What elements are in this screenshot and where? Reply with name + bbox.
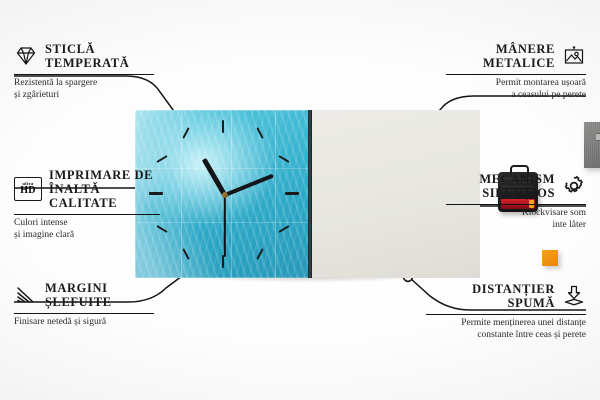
- feature-polished-edges: MARGINI ȘLEFUITE Finisare netedă și sigu…: [14, 281, 154, 329]
- feature-subtitle-line-2: constante între ceas și perete: [477, 330, 586, 340]
- gear-icon: [562, 174, 586, 198]
- feature-subtitle-line-2: și imagine clară: [14, 230, 74, 240]
- feature-title-line-1: DISTANȚIER: [472, 282, 555, 296]
- feature-subtitle-line-1: Finisare netedă și sigură: [14, 317, 106, 327]
- feature-title-line-2: ÎNALTĂ CALITATE: [49, 182, 117, 210]
- feature-title-line-2: SILENȚIOS: [482, 186, 555, 200]
- product-photo: [135, 110, 480, 278]
- clock-face: [135, 110, 310, 278]
- feature-subtitle-line-2: inte låter: [553, 220, 587, 230]
- feature-divider: [14, 74, 154, 75]
- feature-silent-mechanism: MECANISM SILENȚIOS Klockvisare som inte …: [446, 172, 586, 231]
- feature-divider: [426, 314, 586, 315]
- feature-tempered-glass: STICLĂ TEMPERATĂ Rezistentă la spargere …: [14, 42, 154, 101]
- feature-title-line-1: MECANISM: [479, 172, 555, 186]
- ultra-hd-icon-large-text: HD: [20, 186, 35, 196]
- arrow-down-pad-icon: [562, 284, 586, 308]
- clock-second-hand: [224, 195, 226, 257]
- feature-title-line-1: STICLĂ: [45, 42, 95, 56]
- feature-title-line-1: MARGINI: [45, 281, 108, 295]
- diagonal-lines-icon: [14, 283, 38, 307]
- feature-subtitle-line-2: a ceasului pe perete: [511, 90, 586, 100]
- feature-divider: [446, 204, 586, 205]
- clock-minute-hand: [224, 174, 274, 197]
- feature-subtitle-line-1: Rezistentă la spargere: [14, 78, 97, 88]
- feature-subtitle-line-1: Culori intense: [14, 218, 68, 228]
- feature-high-quality-print: ultra HD IMPRIMARE DE ÎNALTĂ CALITATE Cu…: [14, 168, 160, 241]
- feature-subtitle-line-1: Permite menținerea unei distanțe: [461, 318, 586, 328]
- foam-spacer: [542, 250, 558, 266]
- feature-title-line-1: MÂNERE: [496, 42, 555, 56]
- hanger-keyhole-slot: [595, 133, 600, 141]
- feature-divider: [14, 313, 154, 314]
- infographic-canvas: STICLĂ TEMPERATĂ Rezistentă la spargere …: [0, 0, 600, 400]
- feature-metal-handles: MÂNERE METALICE Permit montarea ușoară a…: [446, 42, 586, 101]
- feature-divider: [446, 74, 586, 75]
- feature-title-line-1: IMPRIMARE DE: [49, 168, 153, 182]
- diamond-icon: [14, 44, 38, 68]
- feature-subtitle-line-1: Permit montarea ușoară: [496, 78, 586, 88]
- feature-subtitle-line-1: Klockvisare som: [522, 208, 586, 218]
- feature-title-line-2: TEMPERATĂ: [45, 56, 129, 70]
- clock-hour-hand: [202, 157, 227, 196]
- framed-picture-icon: [562, 44, 586, 68]
- ultra-hd-icon: ultra HD: [14, 177, 42, 201]
- feature-title-line-2: SPUMĂ: [508, 296, 555, 310]
- feature-title-line-2: ȘLEFUITE: [45, 295, 112, 309]
- feature-foam-spacer: DISTANȚIER SPUMĂ Permite menținerea unei…: [426, 282, 586, 341]
- feature-title-line-2: METALICE: [483, 56, 555, 70]
- feature-subtitle-line-2: și zgârieturi: [14, 90, 59, 100]
- metal-hanger-plate: [584, 122, 600, 168]
- feature-divider: [14, 214, 160, 215]
- clock-center-cap: [222, 192, 228, 198]
